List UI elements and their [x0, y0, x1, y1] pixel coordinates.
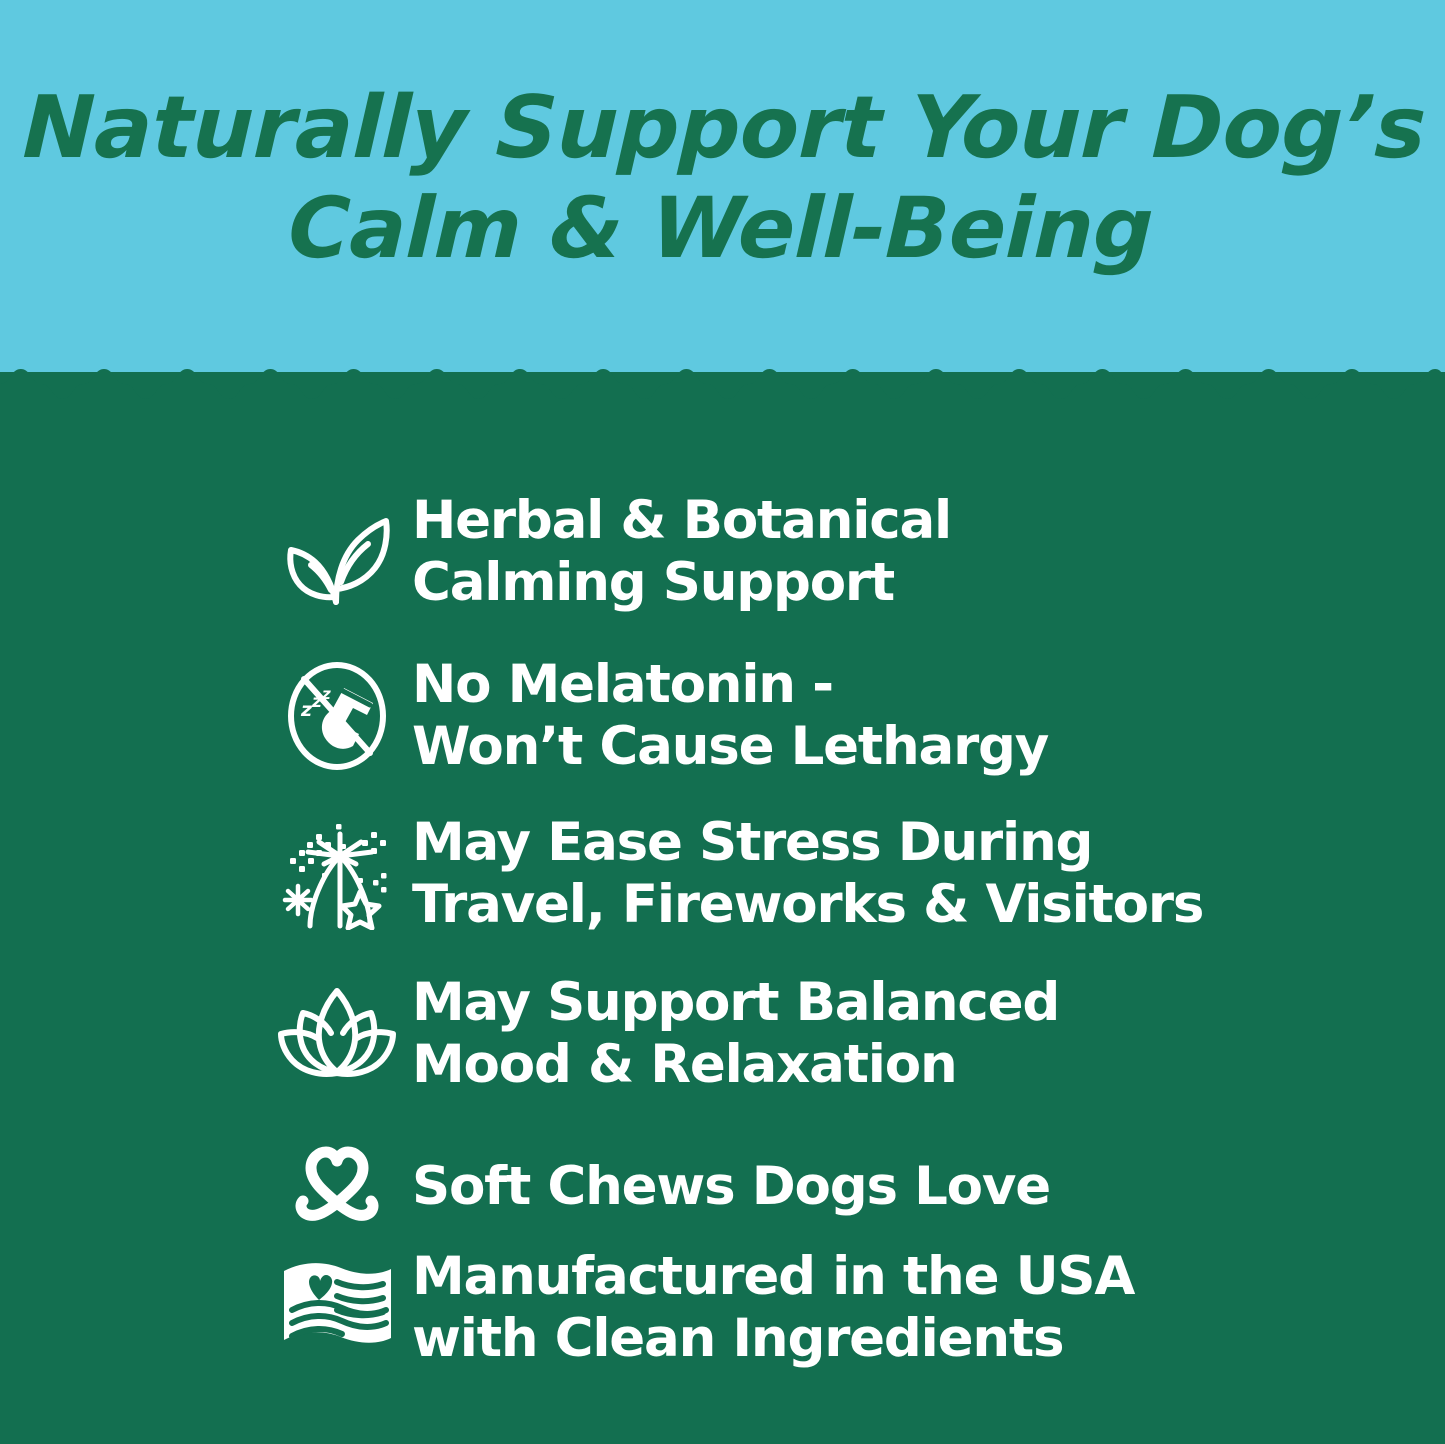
- list-item-label: Soft Chews Dogs Love: [412, 1156, 1050, 1218]
- list-item-line-1: May Ease Stress During: [412, 812, 1203, 874]
- no-melatonin-icon: z z z: [262, 657, 412, 775]
- page-title: Naturally Support Your Dog’s Calm & Well…: [0, 78, 1445, 278]
- svg-text:z: z: [321, 685, 331, 703]
- list-item-label: No Melatonin - Won’t Cause Lethargy: [412, 654, 1048, 778]
- list-item: z z z No Melatonin - Won’t Cause Letharg…: [262, 654, 1382, 778]
- header-band: Naturally Support Your Dog’s Calm & Well…: [0, 0, 1445, 372]
- list-item-line-2: with Clean Ingredients: [412, 1308, 1134, 1370]
- heart-chew-icon: [262, 1128, 412, 1246]
- list-item-line-1: Manufactured in the USA: [412, 1246, 1134, 1308]
- list-item: May Ease Stress During Travel, Fireworks…: [262, 812, 1382, 936]
- wave-shape: [0, 369, 1445, 408]
- list-item-line-1: Herbal & Botanical: [412, 490, 951, 552]
- list-item-label: Manufactured in the USA with Clean Ingre…: [412, 1246, 1134, 1370]
- list-item-label: Herbal & Botanical Calming Support: [412, 490, 951, 614]
- list-item-line-2: Calming Support: [412, 552, 951, 614]
- product-benefits-infographic: Naturally Support Your Dog’s Calm & Well…: [0, 0, 1445, 1444]
- list-item-line-1: Soft Chews Dogs Love: [412, 1156, 1050, 1218]
- usa-flag-heart-icon: [262, 1249, 412, 1367]
- headline-line-1: Naturally Support Your Dog’s: [0, 78, 1445, 178]
- list-item-line-1: No Melatonin -: [412, 654, 1048, 716]
- svg-text:z: z: [311, 692, 322, 712]
- list-item-line-2: Travel, Fireworks & Visitors: [412, 874, 1203, 936]
- headline-line-2: Calm & Well-Being: [0, 178, 1445, 278]
- list-item-label: May Support Balanced Mood & Relaxation: [412, 972, 1059, 1096]
- wavy-divider: [0, 360, 1445, 408]
- leaf-icon: [262, 493, 412, 611]
- list-item-label: May Ease Stress During Travel, Fireworks…: [412, 812, 1203, 936]
- list-item: Herbal & Botanical Calming Support: [262, 490, 1382, 614]
- list-item: May Support Balanced Mood & Relaxation: [262, 972, 1382, 1096]
- list-item: Manufactured in the USA with Clean Ingre…: [262, 1246, 1382, 1370]
- list-item: Soft Chews Dogs Love: [262, 1128, 1382, 1246]
- list-item-line-1: May Support Balanced: [412, 972, 1059, 1034]
- fireworks-icon: [262, 815, 412, 933]
- list-item-line-2: Mood & Relaxation: [412, 1034, 1059, 1096]
- lotus-icon: [262, 975, 412, 1093]
- list-item-line-2: Won’t Cause Lethargy: [412, 716, 1048, 778]
